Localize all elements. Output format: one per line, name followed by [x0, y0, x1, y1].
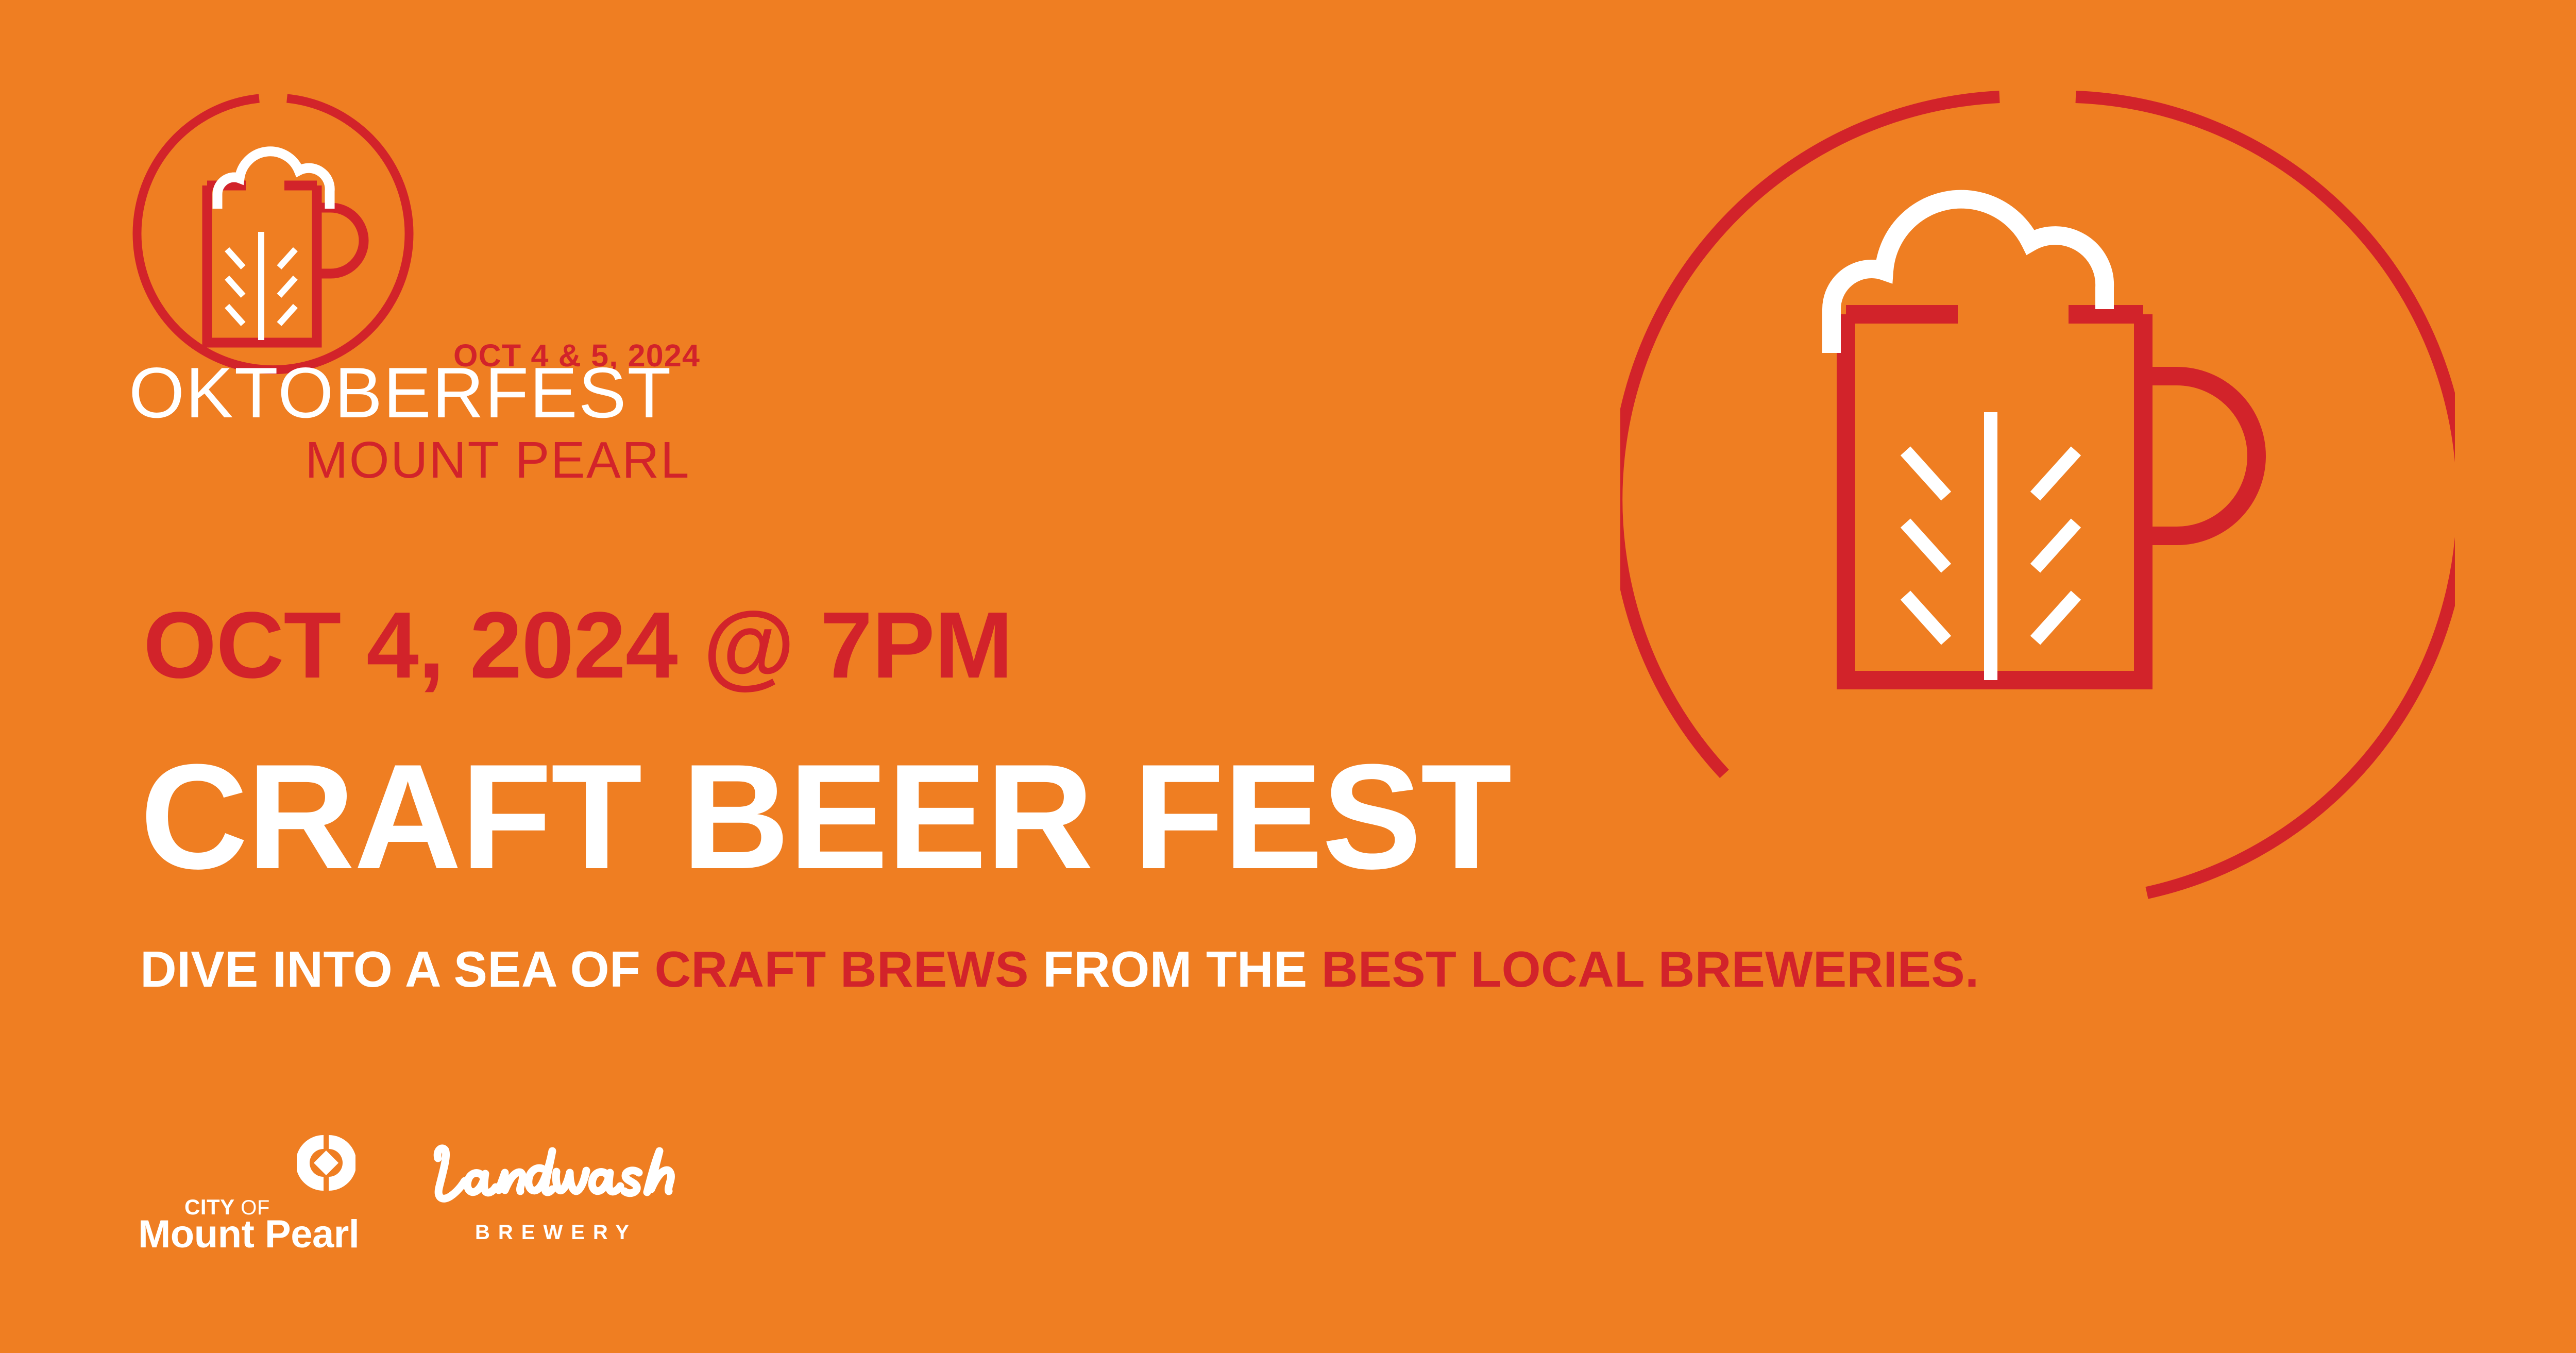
event-datetime: OCT 4, 2024 @ 7PM: [143, 598, 1012, 692]
page-title: CRAFT BEER FEST: [140, 742, 1511, 891]
landwash-script-icon: [427, 1139, 689, 1216]
beer-mug-in-circle-icon: [129, 90, 417, 379]
tagline-highlight-craft-brews: CRAFT BREWS: [654, 941, 1028, 997]
mount-pearl-circle-diamond-icon: [297, 1134, 355, 1192]
oktoberfest-wordmark: OCT 4 & 5, 2024 OKTOBERFEST MOUNT PEARL: [129, 337, 773, 487]
sponsor-wordmark: Mount Pearl: [138, 1215, 359, 1254]
tagline: DIVE INTO A SEA OF CRAFT BREWS FROM THE …: [140, 944, 1979, 994]
sponsor-wordmark: BREWERY: [475, 1222, 637, 1243]
poster-canvas: OCT 4 & 5, 2024 OKTOBERFEST MOUNT PEARL: [0, 0, 2576, 1353]
sponsor-logo-landwash-brewery[interactable]: BREWERY: [419, 1113, 698, 1252]
festival-name: OKTOBERFEST: [129, 357, 672, 429]
sponsor-logos: CITY OF Mount Pearl: [127, 1103, 698, 1252]
sponsor-logo-city-of-mount-pearl[interactable]: CITY OF Mount Pearl: [127, 1118, 389, 1252]
oktoberfest-brand-lockup: OCT 4 & 5, 2024 OKTOBERFEST MOUNT PEARL: [129, 90, 773, 482]
tagline-part-3: .: [1965, 941, 1979, 997]
festival-location: MOUNT PEARL: [305, 434, 690, 486]
tagline-part-1: DIVE INTO A SEA OF: [140, 941, 654, 997]
tagline-highlight-best-local-breweries: BEST LOCAL BREWERIES: [1321, 941, 1965, 997]
tagline-part-2: FROM THE: [1029, 941, 1321, 997]
beer-mug-in-circle-icon: [1620, 82, 2455, 917]
